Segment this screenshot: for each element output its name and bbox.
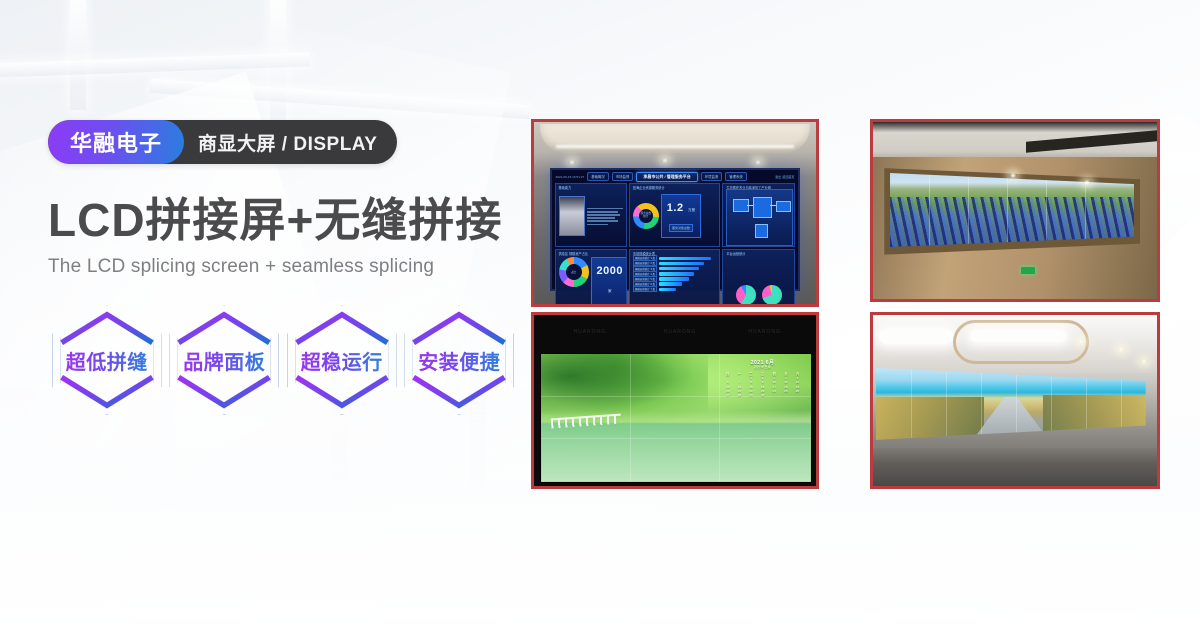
background-beam (0, 52, 310, 77)
screen-seam (981, 368, 982, 440)
background-beam (150, 79, 530, 119)
dashboard-card-scale-table: 市场规模统计表 规模运营统计 1 类 规模运营统计 2 类 规模运营统计 3 类… (629, 249, 721, 305)
dashboard-timestamp: 2021-06-15 16:51:27 (556, 175, 585, 179)
ceiling (540, 124, 811, 153)
feature-item-3: 超稳运行 (283, 304, 401, 416)
legend-item: 国家级服务中心 示范 (653, 246, 682, 247)
dashboard-card-asset-ratio: 供给区 规模资产占比 占比 2000 家 供给资源数量 (555, 249, 627, 305)
kpi-value: 1.2 (667, 202, 684, 214)
calendar-overlay: 2021 6月 农历辛丑年 日 一 二 三 四 五 六 1 (722, 360, 803, 419)
screen-seam (719, 354, 720, 482)
donut-chart: 占比 (559, 257, 589, 287)
page-title: LCD拼接屏+无缝拼接 (48, 196, 518, 244)
kpi-block: 2000 家 供给资源数量 (591, 257, 627, 305)
calendar-day: 25 (780, 390, 792, 394)
calendar-weekday: 一 (734, 372, 745, 376)
calendar-day-grid: 1 2 3 4 5 6 7 8 9 10 11 12 13 14 (722, 377, 803, 398)
screen-brand-label: HUARONG (573, 329, 606, 335)
photo-beach-boardwalk-video-wall[interactable] (870, 312, 1160, 489)
dashboard-card-capability: 基础能力 (555, 183, 627, 247)
screen-seam (630, 354, 631, 482)
screen-seam (911, 368, 912, 440)
feature-item-4: 安装便捷 (401, 304, 519, 416)
kpi-unit: 家 (608, 289, 612, 293)
dashboard-header: 2021-06-15 16:51:27 基础概况 市场监督 承昌市公共 / 管理… (554, 172, 797, 182)
kpi-value: 2000 (597, 265, 623, 277)
screen-seam (1051, 368, 1052, 440)
screen-seam (968, 170, 969, 250)
feature-label: 品牌面板 (183, 346, 265, 375)
dashboard-tab-4[interactable]: 管理系统 (725, 172, 747, 181)
banner-text-column: 华融电子 商显大屏 / DISPLAY LCD拼接屏+无缝拼接 The LCD … (48, 120, 518, 416)
calendar-day: 24 (768, 390, 780, 394)
photo-willow-lake-video-wall[interactable]: HUARONG HUARONG HUARONG 2021 6月 农历辛丑年 日 … (531, 312, 819, 489)
flow-node (733, 199, 749, 212)
dashboard-row-bottom: 供给区 规模资产占比 占比 2000 家 供给资源数量 (555, 249, 796, 305)
background-beam (270, 0, 286, 140)
dashboard-row-top: 基础能力 蓝海企业资源服务统计 (555, 183, 796, 247)
screen-seam (1007, 170, 1008, 250)
lake-water (541, 423, 812, 482)
flow-node (753, 197, 772, 218)
feature-label: 超稳运行 (301, 346, 383, 375)
lobby-floor (873, 448, 1157, 486)
card-title: 蓝海企业资源服务统计 (633, 185, 665, 190)
product-category-label: 商显大屏 / DISPLAY (184, 120, 397, 164)
legend-item: 事业 单位 (633, 246, 649, 247)
dashboard-tab-2[interactable]: 市场监督 (612, 172, 634, 181)
card-title: 平台运营统计 (726, 251, 745, 256)
kpi-block: 1.2 万座 服务对象总数 (661, 194, 701, 238)
page-subtitle: The LCD splicing screen + seamless splic… (48, 256, 518, 278)
feature-item-2: 品牌面板 (166, 304, 284, 416)
screen-seam (1046, 170, 1047, 250)
dashboard-tab-3[interactable]: 环境监测 (701, 172, 723, 181)
background-diamond (585, 495, 825, 640)
wall-top-bezel: HUARONG HUARONG HUARONG (534, 315, 816, 353)
brand-badge: 华融电子 商显大屏 / DISPLAY (48, 120, 397, 164)
feature-item-1: 超低拼缝 (48, 304, 166, 416)
feature-list: 超低拼缝 品牌面板 (48, 304, 518, 416)
video-wall-screen: 2021-06-15 16:51:27 基础概况 市场监督 承昌市公共 / 管理… (550, 168, 801, 292)
screen-brand-label: HUARONG (748, 329, 781, 335)
feature-label: 安装便捷 (418, 346, 500, 375)
calendar-day: 26 (792, 390, 804, 394)
donut-center-label: 服务总数统计 (633, 203, 659, 229)
card-text-lines (587, 207, 623, 226)
legend-item: 园区 服务体 (686, 246, 705, 247)
donut-chart: 服务总数统计 (633, 203, 659, 229)
promo-banner: 华融电子 商显大屏 / DISPLAY LCD拼接屏+无缝拼接 The LCD … (0, 0, 1200, 640)
background-diamond (815, 535, 985, 640)
exit-sign-icon (1021, 267, 1035, 274)
card-title: 基础能力 (559, 185, 572, 190)
donut-center-label: 占比 (559, 257, 589, 287)
calendar-weekday: 日 (722, 372, 733, 376)
screen-brand-label: HUARONG (664, 329, 697, 335)
bar-row: 规模运营统计 7 类 (633, 288, 717, 292)
screen-seam (946, 368, 947, 440)
screen-seam (541, 438, 812, 439)
kpi-sublabel: 服务对象总数 (669, 224, 693, 232)
beach-grass-left (876, 397, 984, 440)
dashboard-card-enterprise-service: 蓝海企业资源服务统计 服务总数统计 1.2 万座 服务对象总数 (629, 183, 721, 247)
dashboard-title: 承昌市公共 / 管理服务平台 (636, 172, 697, 182)
photo-dashboard-video-wall[interactable]: 2021-06-15 16:51:27 基础概况 市场监督 承昌市公共 / 管理… (531, 119, 819, 307)
flow-node (755, 224, 769, 238)
flow-diagram (726, 189, 793, 246)
screen-seam (929, 170, 930, 250)
pie-chart (736, 285, 756, 304)
calendar-subtitle: 农历辛丑年 (722, 366, 803, 370)
flow-node (776, 201, 791, 213)
ceiling-cove-light (879, 329, 953, 344)
dashboard-nav-right[interactable]: 退出 返回首页 (775, 174, 794, 179)
feature-label: 超低拼缝 (66, 346, 148, 375)
screen-seam (1016, 368, 1017, 440)
flow-link (747, 205, 754, 206)
card-title: 供给区 规模资产占比 (559, 251, 589, 256)
ceiling-recess (1026, 131, 1157, 153)
ceiling-cove-light (970, 330, 1067, 342)
card-thumbnail (559, 196, 585, 237)
dashboard-body: 基础能力 蓝海企业资源服务统计 (554, 182, 797, 305)
dashboard-tab-1[interactable]: 基础概况 (587, 172, 609, 181)
dashboard-card-industry-chain: 生态循环农业与精深加工产业链 (722, 183, 795, 247)
brand-name-pill: 华融电子 (48, 120, 184, 164)
screen-seam (541, 396, 812, 397)
card-legend: 事业 单位 国家级服务中心 示范 园区 服务体 企业、农业、其他市场主体 (633, 246, 717, 247)
video-wall-screen: 2021 6月 农历辛丑年 日 一 二 三 四 五 六 1 (540, 353, 813, 483)
pie-chart-group (726, 255, 791, 305)
flow-link (770, 205, 775, 206)
card-kpi-area: 服务总数统计 1.2 万座 服务对象总数 (633, 189, 717, 244)
card-title: 市场规模统计表 (633, 251, 655, 256)
pie-chart (762, 285, 782, 304)
photo-solar-farm-video-wall[interactable] (870, 119, 1160, 302)
background-beam (70, 0, 86, 110)
bar-chart: 规模运营统计 1 类 规模运营统计 2 类 规模运营统计 3 类 规模运营统计 … (633, 255, 717, 305)
kpi-unit: 万座 (688, 208, 695, 212)
card-kpi-area: 占比 2000 家 供给资源数量 (559, 255, 623, 305)
dashboard-card-operations: 平台运营统计 (722, 249, 795, 305)
background-diamond (1013, 493, 1197, 640)
